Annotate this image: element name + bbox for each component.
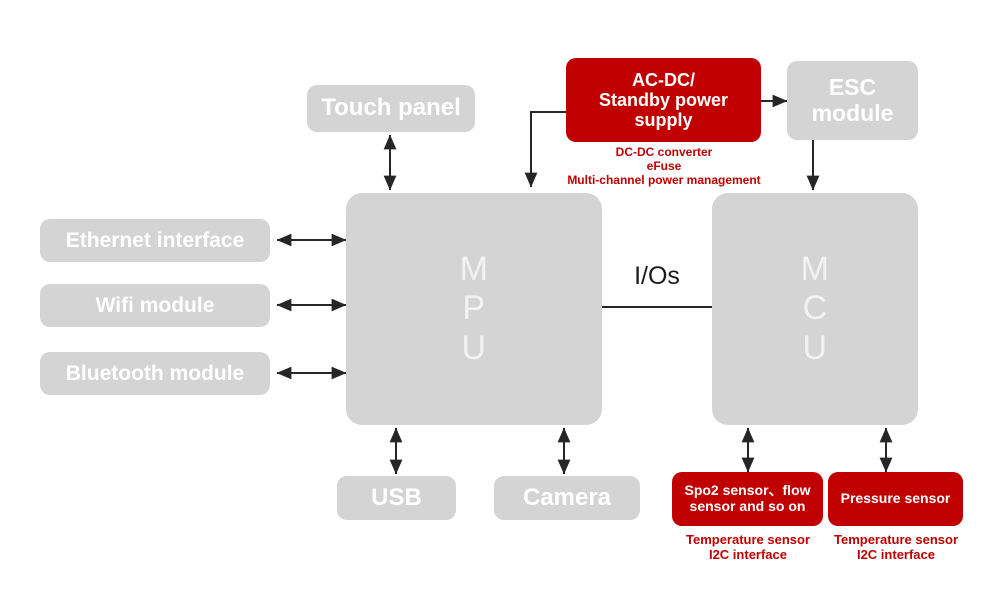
block-touch-panel[interactable]: Touch panel [307,85,475,132]
mcu-letter-m: M [801,250,830,289]
block-spo2-sensor[interactable]: Spo2 sensor、flow sensor and so on [672,472,823,526]
caption-pressure-detail: Temperature sensor I2C interface [810,532,982,563]
mpu-letter-m: M [460,250,489,289]
diagram-canvas: Touch panel Ethernet interface Wifi modu… [0,0,1000,600]
block-camera[interactable]: Camera [494,476,640,520]
mcu-letter-c: C [802,289,827,328]
mcu-letter-stack: M C U [801,250,830,367]
caption-power-supply-detail: DC-DC converter eFuse Multi-channel powe… [534,145,794,187]
mpu-letter-u: U [461,329,486,368]
block-mcu[interactable]: M C U [712,193,918,425]
block-wifi-module[interactable]: Wifi module [40,284,270,327]
block-mpu[interactable]: M P U [346,193,602,425]
block-ethernet-interface[interactable]: Ethernet interface [40,219,270,262]
block-pressure-sensor[interactable]: Pressure sensor [828,472,963,526]
block-usb[interactable]: USB [337,476,456,520]
io-bus-label: I/Os [607,262,707,291]
mpu-letter-p: P [462,289,485,328]
block-power-supply[interactable]: AC-DC/ Standby power supply [566,58,761,142]
mpu-letter-stack: M P U [460,250,489,367]
mcu-letter-u: U [802,329,827,368]
block-esc-module[interactable]: ESC module [787,61,918,140]
caption-spo2-detail: Temperature sensor I2C interface [662,532,834,563]
block-bluetooth-module[interactable]: Bluetooth module [40,352,270,395]
